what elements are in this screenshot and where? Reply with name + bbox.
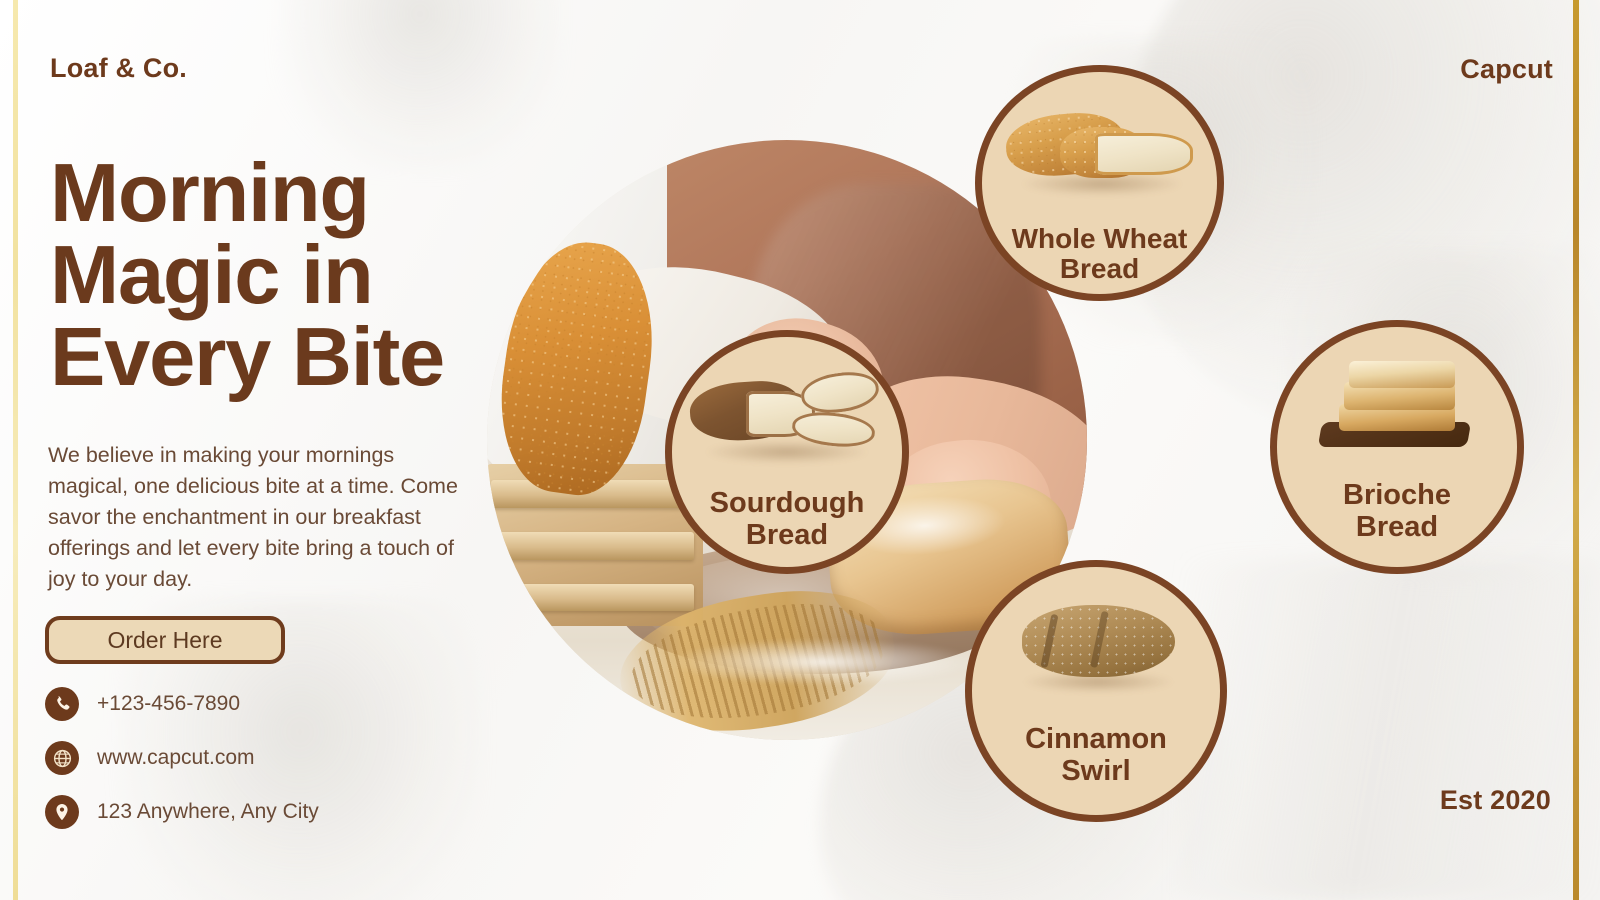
brand-name: Loaf & Co.	[50, 53, 187, 84]
whole-wheat-label-line-2: Bread	[1060, 253, 1139, 284]
order-here-button[interactable]: Order Here	[45, 616, 285, 664]
phone-icon	[45, 687, 79, 721]
order-here-label: Order Here	[107, 627, 222, 654]
product-badge-whole-wheat[interactable]: Whole Wheat Bread	[975, 65, 1224, 301]
sourdough-label: Sourdough Bread	[672, 488, 902, 567]
whole-wheat-label: Whole Wheat Bread	[982, 224, 1217, 294]
brioche-label: Brioche Bread	[1277, 480, 1517, 567]
sourdough-bread-art	[672, 337, 902, 488]
established-year: Est 2020	[1440, 785, 1551, 816]
contact-row-address[interactable]: 123 Anywhere, Any City	[45, 795, 319, 829]
contact-info-list: +123-456-7890 www.capcut.com	[45, 687, 319, 829]
contact-website-text: www.capcut.com	[97, 746, 255, 770]
bread-cut-face	[1095, 133, 1194, 175]
contact-row-phone[interactable]: +123-456-7890	[45, 687, 319, 721]
gold-rule-left	[13, 0, 18, 900]
brioche-label-line-2: Bread	[1356, 511, 1438, 543]
product-badge-sourdough[interactable]: Sourdough Bread	[665, 330, 909, 574]
contact-row-website[interactable]: www.capcut.com	[45, 741, 319, 775]
background-streak	[1180, 560, 1600, 900]
product-badge-brioche[interactable]: Brioche Bread	[1270, 320, 1524, 574]
sourdough-label-line-1: Sourdough	[710, 487, 865, 519]
page-title: Morning Magic in Every Bite	[50, 152, 590, 398]
poster-canvas: Loaf & Co. Morning Magic in Every Bite W…	[0, 0, 1600, 900]
product-badge-cinnamon-swirl[interactable]: Cinnamon Swirl	[965, 560, 1227, 822]
headline-line-1: Morning	[50, 152, 590, 234]
hero-crate-slat	[491, 532, 694, 560]
cinnamon-swirl-bread-art	[972, 567, 1220, 724]
sourdough-label-line-2: Bread	[746, 519, 828, 551]
cinnamon-label-line-2: Swirl	[1061, 755, 1130, 787]
location-pin-icon	[45, 795, 79, 829]
contact-address-text: 123 Anywhere, Any City	[97, 800, 319, 824]
whole-wheat-bread-art	[982, 72, 1217, 224]
whole-wheat-label-line-1: Whole Wheat	[1012, 223, 1188, 254]
headline-line-2: Magic in	[50, 234, 590, 316]
hero-scattered-flour	[667, 638, 979, 686]
globe-icon	[45, 741, 79, 775]
contact-phone-text: +123-456-7890	[97, 692, 240, 716]
headline-line-3: Every Bite	[50, 316, 590, 398]
hero-crate-slat	[491, 584, 694, 612]
description-text: We believe in making your mornings magic…	[48, 440, 480, 596]
brioche-bread-art	[1277, 327, 1517, 480]
cinnamon-swirl-label: Cinnamon Swirl	[972, 724, 1220, 815]
cinnamon-label-line-1: Cinnamon	[1025, 723, 1167, 755]
brioche-slice-top	[1349, 361, 1455, 389]
capcut-watermark: Capcut	[1460, 54, 1553, 85]
gold-rule-right	[1573, 0, 1579, 900]
brioche-label-line-1: Brioche	[1343, 479, 1451, 511]
